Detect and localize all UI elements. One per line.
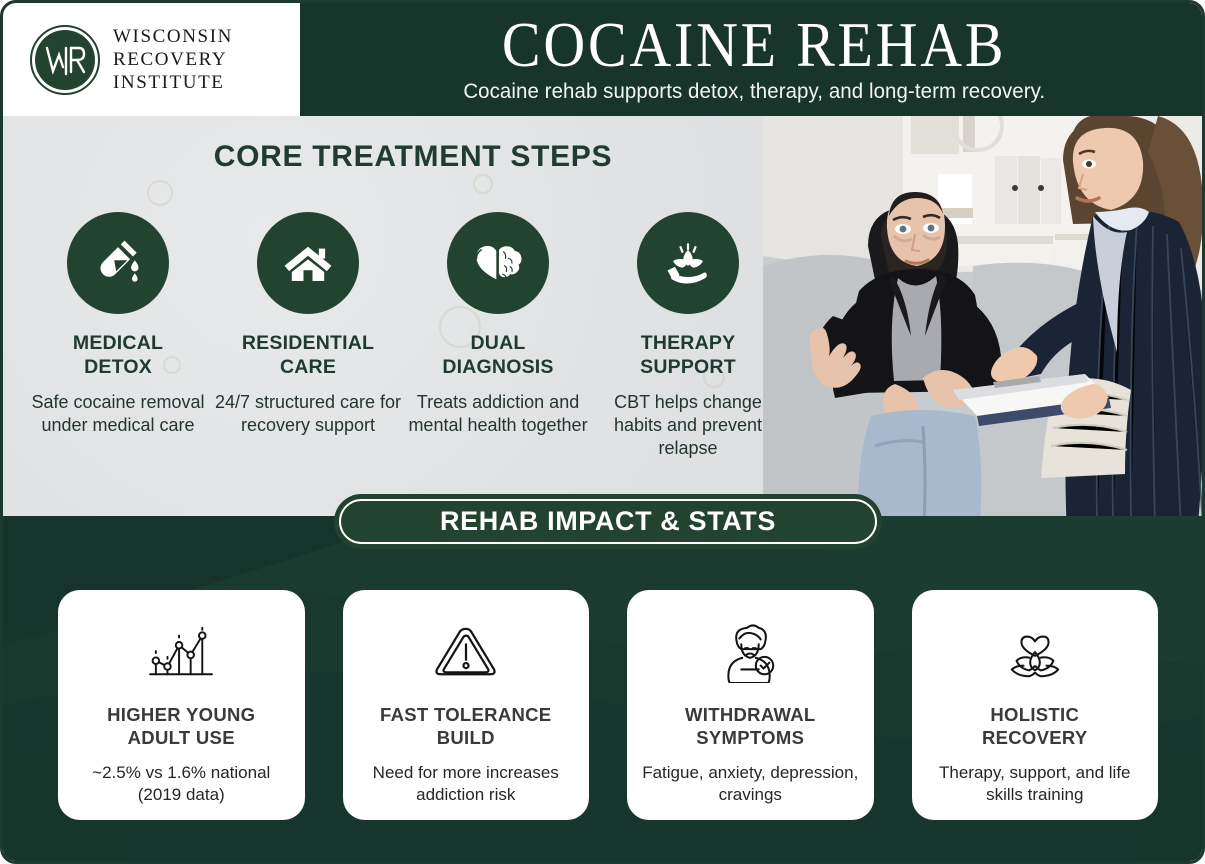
core-treatment-steps-row: MEDICAL DETOX Safe cocaine removal under…: [23, 212, 783, 460]
rehab-impact-banner: REHAB IMPACT & STATS: [334, 494, 882, 549]
stat-title-line2: BUILD: [380, 727, 551, 750]
step-desc-medical-detox: Safe cocaine removal under medical care: [23, 391, 213, 437]
step-residential-care[interactable]: RESIDENTIAL CARE 24/7 structured care fo…: [213, 212, 403, 460]
stat-cards-row: HIGHER YOUNG ADULT USE ~2.5% vs 1.6% nat…: [58, 590, 1158, 820]
header-bar: WISCONSIN RECOVERY INSTITUTE COCAINE REH…: [3, 3, 1205, 116]
logo-line-3: INSTITUTE: [113, 71, 233, 94]
step-desc-residential-care: 24/7 structured care for recovery suppor…: [213, 391, 403, 437]
stat-card-higher-young-adult-use[interactable]: HIGHER YOUNG ADULT USE ~2.5% vs 1.6% nat…: [58, 590, 305, 820]
line-chart-icon: [142, 612, 220, 694]
decorative-circle-1: [147, 180, 173, 206]
person-symptoms-icon: [716, 612, 784, 694]
core-treatment-section: CORE TREATMENT STEPS: [3, 116, 1205, 518]
therapy-session-photo: [763, 116, 1205, 518]
logo-line-2: RECOVERY: [113, 48, 233, 71]
heart-lotus-icon: [1001, 612, 1069, 694]
stat-title-line1: HOLISTIC: [982, 704, 1088, 727]
step-title-residential-care: RESIDENTIAL CARE: [242, 332, 374, 380]
house-icon: [257, 212, 359, 314]
step-dual-diagnosis[interactable]: DUAL DIAGNOSIS Treats addiction and ment…: [403, 212, 593, 460]
step-title-line1: THERAPY: [640, 332, 736, 356]
decorative-circle-3: [473, 174, 493, 194]
heart-brain-icon: [447, 212, 549, 314]
step-title-therapy-support: THERAPY SUPPORT: [640, 332, 736, 380]
stat-card-fast-tolerance-build[interactable]: FAST TOLERANCE BUILD Need for more incre…: [343, 590, 590, 820]
logo-line-1: WISCONSIN: [113, 25, 233, 48]
logo-wordmark: WISCONSIN RECOVERY INSTITUTE: [113, 25, 233, 95]
step-desc-dual-diagnosis: Treats addiction and mental health toget…: [403, 391, 593, 437]
stat-title-higher-young-adult-use: HIGHER YOUNG ADULT USE: [107, 704, 255, 750]
step-title-line2: SUPPORT: [640, 356, 736, 380]
step-title-medical-detox: MEDICAL DETOX: [73, 332, 163, 380]
stat-title-line2: RECOVERY: [982, 727, 1088, 750]
page-subtitle: Cocaine rehab supports detox, therapy, a…: [463, 79, 1045, 104]
stat-desc-holistic-recovery: Therapy, support, and life skills traini…: [926, 762, 1145, 806]
infographic-page: WISCONSIN RECOVERY INSTITUTE COCAINE REH…: [0, 0, 1205, 864]
stat-title-line1: FAST TOLERANCE: [380, 704, 551, 727]
step-title-line1: RESIDENTIAL: [242, 332, 374, 356]
step-title-line1: MEDICAL: [73, 332, 163, 356]
stat-title-line2: SYMPTOMS: [685, 727, 815, 750]
hand-lotus-icon: [637, 212, 739, 314]
step-title-line2: CARE: [242, 356, 374, 380]
title-block: COCAINE REHAB Cocaine rehab supports det…: [300, 3, 1205, 116]
step-title-line1: DUAL: [442, 332, 553, 356]
step-medical-detox[interactable]: MEDICAL DETOX Safe cocaine removal under…: [23, 212, 213, 460]
step-title-line2: DETOX: [73, 356, 163, 380]
stat-desc-higher-young-adult-use: ~2.5% vs 1.6% national (2019 data): [72, 762, 291, 806]
step-title-line2: DIAGNOSIS: [442, 356, 553, 380]
stat-title-fast-tolerance-build: FAST TOLERANCE BUILD: [380, 704, 551, 750]
stat-title-line1: HIGHER YOUNG: [107, 704, 255, 727]
stat-title-line2: ADULT USE: [107, 727, 255, 750]
stat-title-holistic-recovery: HOLISTIC RECOVERY: [982, 704, 1088, 750]
step-desc-therapy-support: CBT helps change habits and prevent rela…: [593, 391, 783, 460]
stat-desc-withdrawal-symptoms: Fatigue, anxiety, depression, cravings: [641, 762, 860, 806]
stat-card-holistic-recovery[interactable]: HOLISTIC RECOVERY Therapy, support, and …: [912, 590, 1159, 820]
stat-desc-fast-tolerance-build: Need for more increases addiction risk: [357, 762, 576, 806]
step-title-dual-diagnosis: DUAL DIAGNOSIS: [442, 332, 553, 380]
warning-triangle-icon: [432, 612, 500, 694]
stat-card-withdrawal-symptoms[interactable]: WITHDRAWAL SYMPTOMS Fatigue, anxiety, de…: [627, 590, 874, 820]
wri-circle-logo-icon: [29, 24, 101, 96]
stat-title-line1: WITHDRAWAL: [685, 704, 815, 727]
logo-band: WISCONSIN RECOVERY INSTITUTE: [3, 3, 300, 116]
rehab-impact-banner-label: REHAB IMPACT & STATS: [440, 506, 776, 537]
stat-title-withdrawal-symptoms: WITHDRAWAL SYMPTOMS: [685, 704, 815, 750]
core-treatment-heading: CORE TREATMENT STEPS: [3, 140, 823, 174]
page-title: COCAINE REHAB: [502, 15, 1006, 77]
test-tube-drop-icon: [67, 212, 169, 314]
step-therapy-support[interactable]: THERAPY SUPPORT CBT helps change habits …: [593, 212, 783, 460]
